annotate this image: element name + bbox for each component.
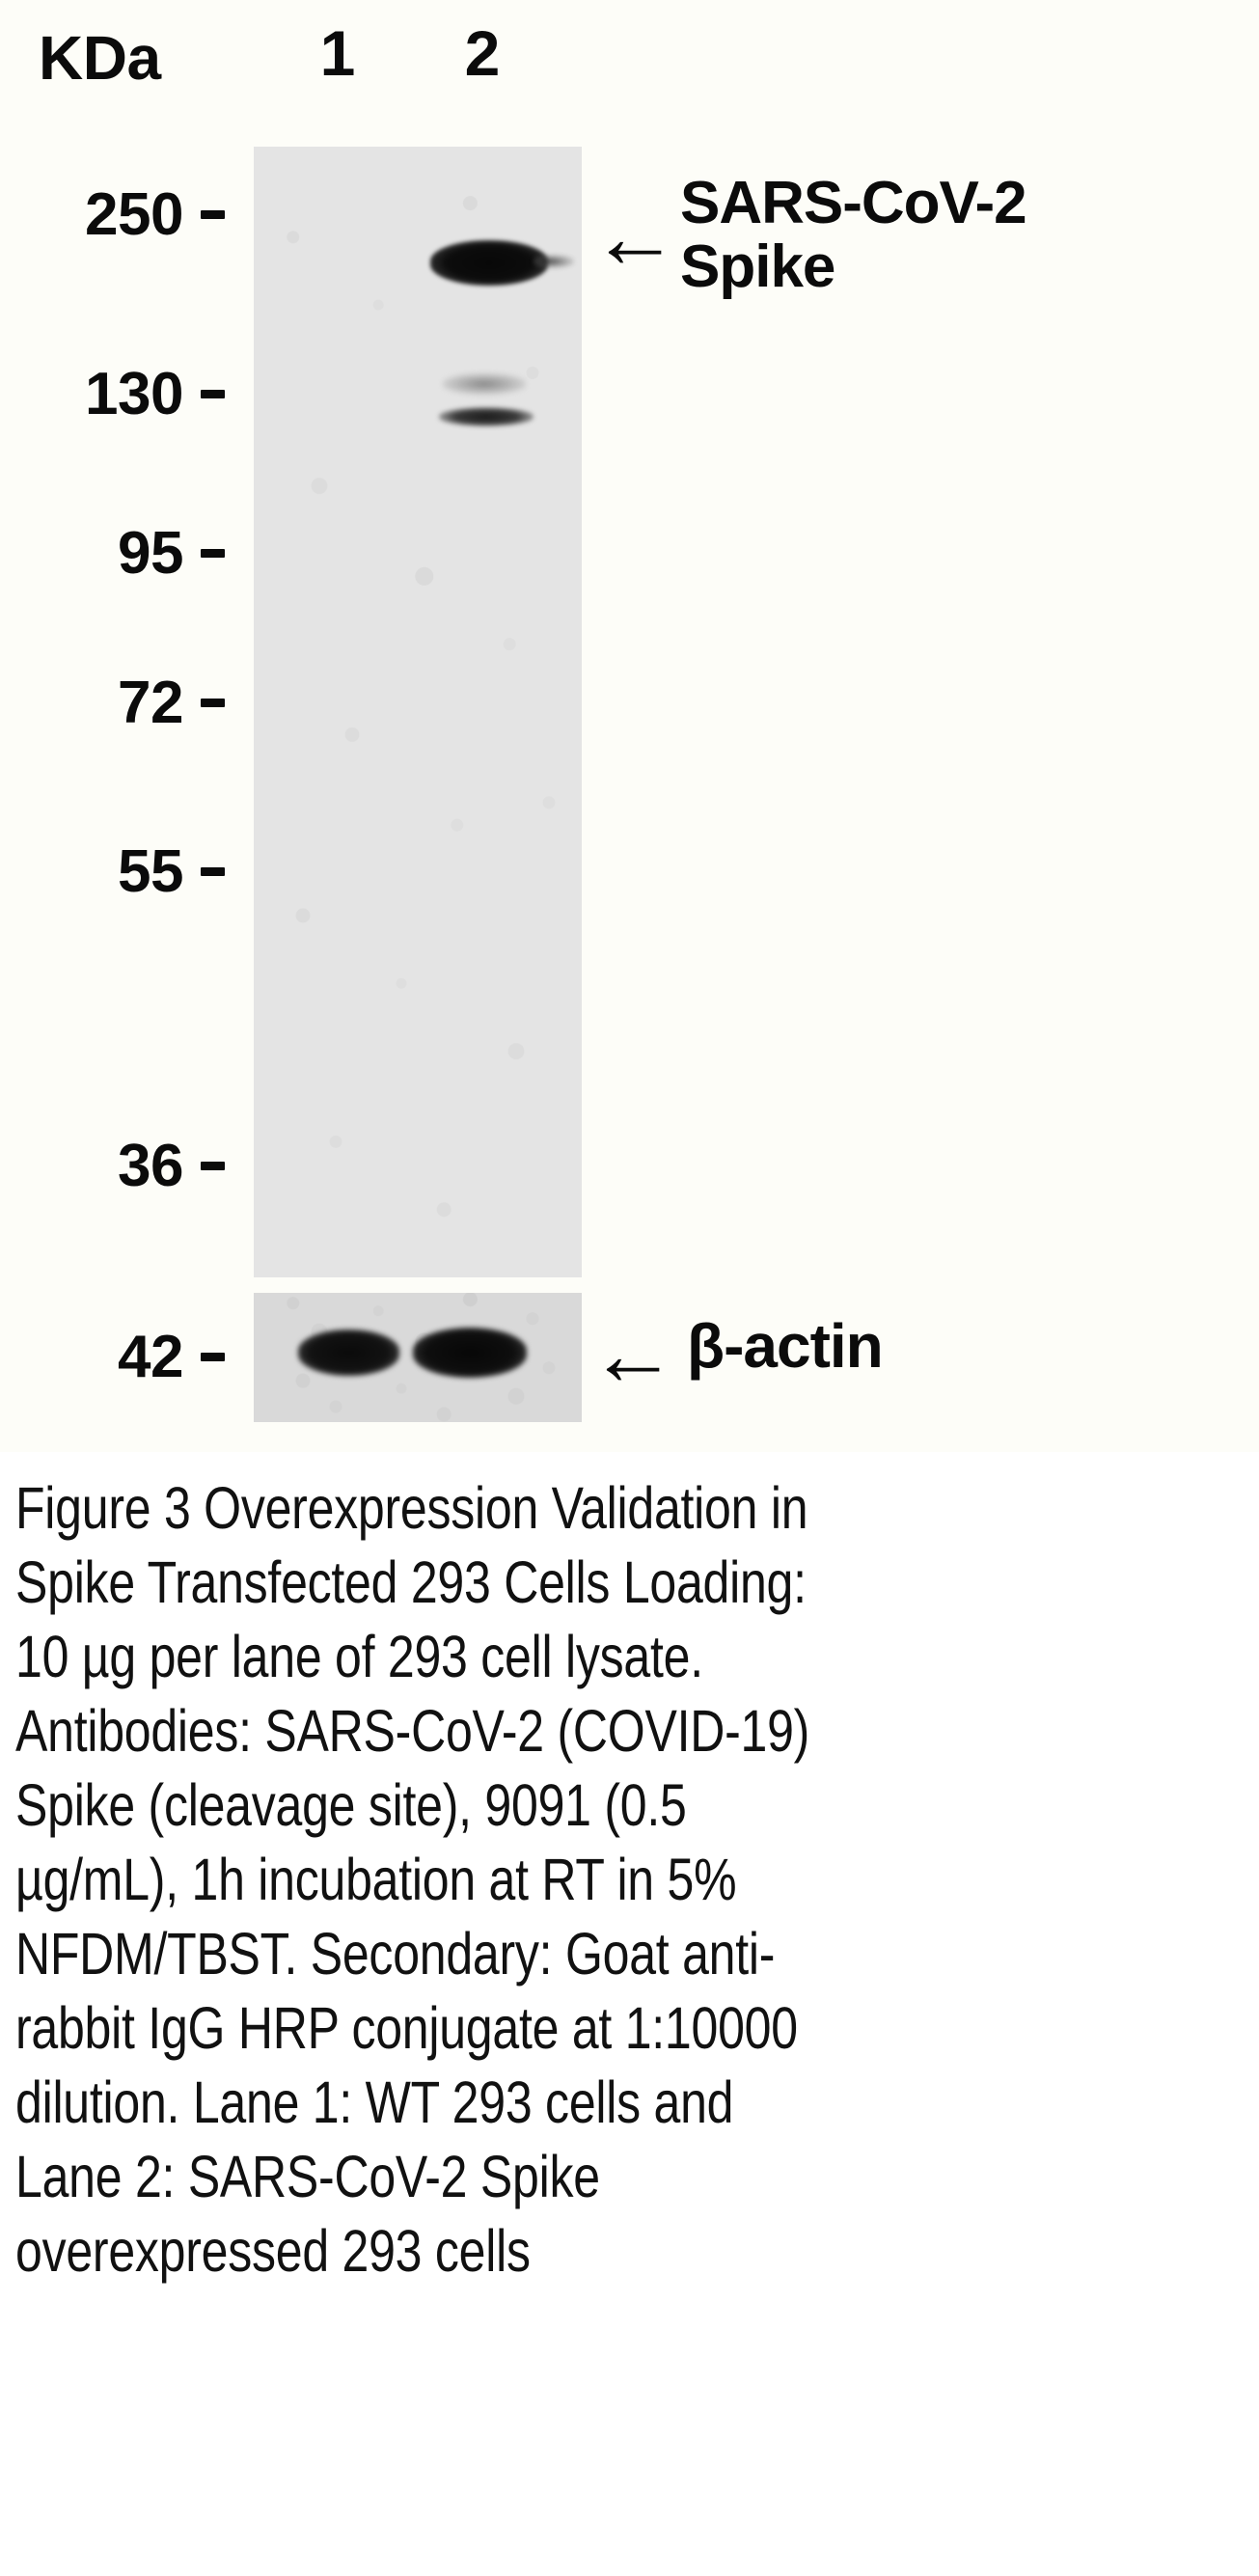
mw-label-250: 250 <box>10 185 183 245</box>
band-sars-cov-2-spike <box>430 240 548 286</box>
band-spike-cleavage-lower <box>439 407 534 426</box>
membrane-texture-actin <box>254 1293 582 1422</box>
left-arrow-icon-spike: ← <box>590 193 679 282</box>
mw-label-42: 42 <box>10 1328 183 1387</box>
lane-number-2: 2 <box>434 21 531 85</box>
figure-caption-area: Figure 3 Overexpression Validation in Sp… <box>0 1452 1259 2576</box>
kda-axis-header: KDa <box>10 27 212 89</box>
band-spike-smear <box>534 255 574 268</box>
mw-label-55: 55 <box>10 842 183 902</box>
western-blot-figure: KDa 1 2 250 130 95 72 55 36 42 ← SARS-Co… <box>0 0 1259 1452</box>
blot-membrane-main <box>254 147 582 1277</box>
band-beta-actin-lane2 <box>413 1328 527 1378</box>
mw-tick-55 <box>201 867 225 876</box>
mw-tick-36 <box>201 1162 225 1170</box>
mw-label-95: 95 <box>10 524 183 584</box>
annotation-label-spike-line1: SARS-CoV-2 <box>680 172 1259 235</box>
mw-tick-42 <box>201 1353 225 1361</box>
mw-tick-130 <box>201 390 225 398</box>
annotation-label-beta-actin: β-actin <box>687 1314 1189 1378</box>
mw-label-130: 130 <box>10 365 183 425</box>
blot-membrane-actin <box>254 1293 582 1422</box>
mw-tick-72 <box>201 699 225 707</box>
mw-label-36: 36 <box>10 1137 183 1196</box>
mw-tick-250 <box>201 210 225 219</box>
mw-label-72: 72 <box>10 673 183 733</box>
annotation-label-spike-line2: Spike <box>680 235 1259 299</box>
mw-tick-95 <box>201 549 225 558</box>
annotation-label-spike: SARS-CoV-2 Spike <box>680 172 1259 299</box>
lane-number-1: 1 <box>289 21 386 85</box>
left-arrow-icon-actin: ← <box>588 1310 677 1399</box>
figure-caption-text: Figure 3 Overexpression Validation in Sp… <box>15 1471 822 2288</box>
band-beta-actin-lane1 <box>298 1329 399 1376</box>
band-spike-cleavage-upper <box>443 373 526 395</box>
membrane-texture <box>254 147 582 1277</box>
